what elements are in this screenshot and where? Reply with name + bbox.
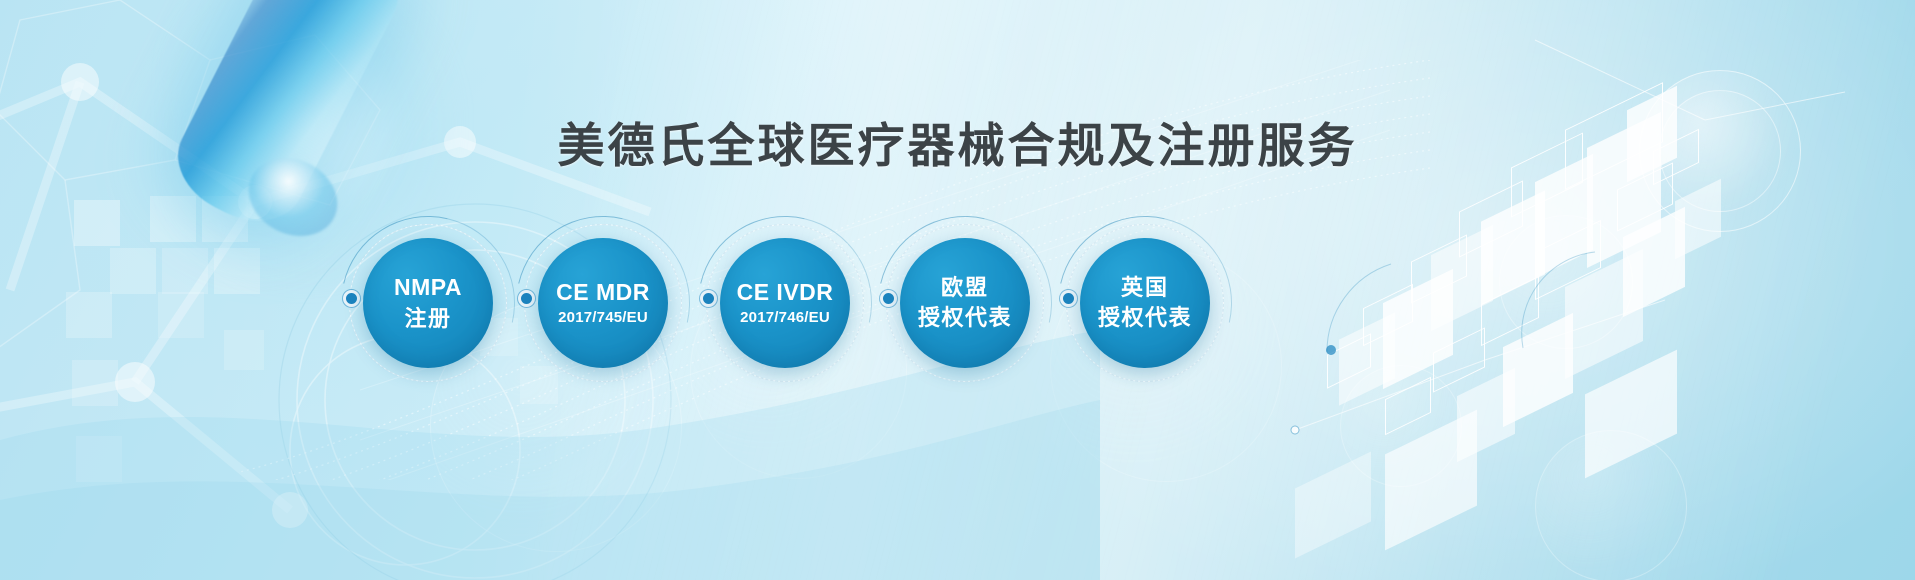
badge-node-dot — [518, 290, 535, 307]
badge-disc[interactable]: CE MDR 2017/745/EU — [538, 238, 668, 368]
badge-line2: 注册 — [404, 306, 451, 332]
badge-node-dot — [700, 290, 717, 307]
badge-line2: 2017/745/EU — [558, 309, 648, 327]
badge-nmpa[interactable]: NMPA 注册 — [363, 238, 493, 368]
badge-node-dot — [880, 290, 897, 307]
badge-ce-mdr[interactable]: CE MDR 2017/745/EU — [538, 238, 668, 368]
badge-line1: CE MDR — [556, 279, 650, 305]
badge-eu-rep[interactable]: 欧盟 授权代表 — [900, 238, 1030, 368]
badge-line2: 2017/746/EU — [740, 309, 830, 327]
badge-line2: 授权代表 — [1098, 305, 1192, 331]
badge-disc[interactable]: 欧盟 授权代表 — [900, 238, 1030, 368]
badge-disc[interactable]: NMPA 注册 — [363, 238, 493, 368]
badge-line1: NMPA — [394, 274, 462, 300]
badge-node-dot — [1060, 290, 1077, 307]
badge-ce-ivdr[interactable]: CE IVDR 2017/746/EU — [720, 238, 850, 368]
badge-uk-rep[interactable]: 英国 授权代表 — [1080, 238, 1210, 368]
badge-disc[interactable]: 英国 授权代表 — [1080, 238, 1210, 368]
promo-banner: 美德氏全球医疗器械合规及注册服务 NMPA 注册 CE MDR 2017/745… — [0, 0, 1915, 580]
badge-disc[interactable]: CE IVDR 2017/746/EU — [720, 238, 850, 368]
badge-line1: 英国 — [1121, 275, 1169, 300]
badge-row: NMPA 注册 CE MDR 2017/745/EU CE IVDR 2017/… — [0, 0, 1915, 580]
badge-line1: CE IVDR — [737, 279, 834, 305]
badge-node-dot — [343, 290, 360, 307]
badge-line2: 授权代表 — [918, 305, 1012, 331]
badge-line1: 欧盟 — [941, 275, 989, 300]
